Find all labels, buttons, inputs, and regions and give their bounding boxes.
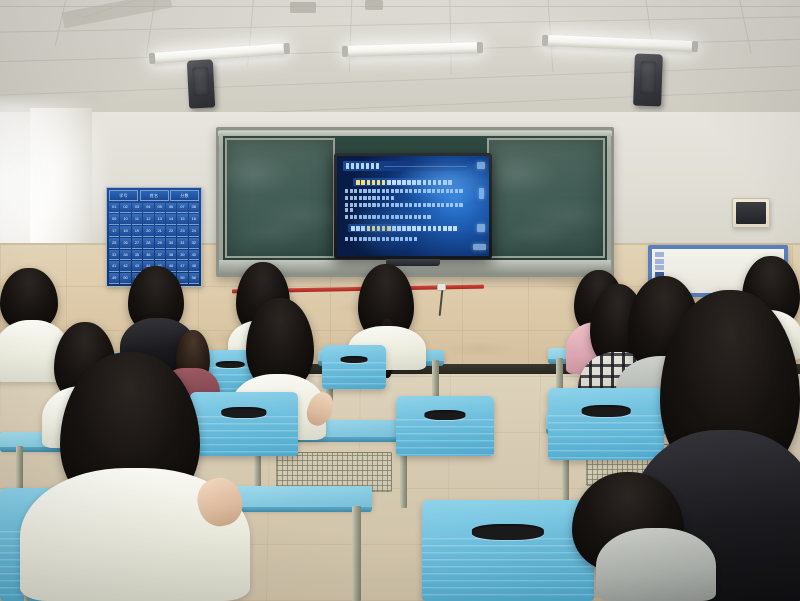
wall-control-panel[interactable]	[732, 198, 770, 228]
chart-cell[interactable]: 32	[189, 238, 199, 249]
desk-leg	[352, 506, 361, 601]
slide-text-glyph	[459, 203, 462, 207]
slide-text-glyph	[359, 196, 362, 200]
chart-row: 0102030405060708	[109, 203, 199, 214]
chart-cell[interactable]: 17	[109, 226, 119, 237]
slide-text-glyph	[418, 203, 421, 207]
slide-text-glyph	[418, 189, 421, 193]
screen-surface	[337, 156, 489, 256]
chart-row: 2526272829303132	[109, 238, 199, 249]
slide-text-glyph	[368, 196, 371, 200]
slide-text-glyph	[377, 180, 381, 185]
slide-text-glyph	[354, 196, 357, 200]
slide-text-glyph	[412, 180, 416, 185]
chart-cell[interactable]: 38	[166, 250, 176, 261]
classroom-photo: 学号姓名分数 010203040506070809101112131415161…	[0, 0, 800, 601]
slide-text-glyph	[395, 237, 398, 241]
slide-text-glyph	[372, 203, 375, 207]
slide-text-glyph	[395, 203, 398, 207]
slide-text-glyph	[414, 237, 417, 241]
chart-cell[interactable]: 33	[109, 250, 119, 261]
slide-text-glyph	[356, 180, 360, 185]
slide-text-glyph	[359, 189, 362, 193]
chart-cell[interactable]: 25	[109, 238, 119, 249]
slide-text-glyph	[441, 203, 444, 207]
chart-cell[interactable]: 34	[120, 250, 130, 261]
chair[interactable]	[396, 396, 494, 456]
slide-text-glyph	[377, 189, 380, 193]
slide-footer	[345, 237, 463, 241]
chart-cell[interactable]: 48	[189, 261, 199, 272]
slide-text-glyph	[432, 203, 435, 207]
chart-cell[interactable]: 29	[155, 238, 165, 249]
slide-text-glyph	[405, 189, 408, 193]
slide-text-glyph	[400, 237, 403, 241]
chair[interactable]	[322, 345, 386, 389]
slide-text-glyph	[400, 203, 403, 207]
slide-text-glyph	[395, 189, 398, 193]
slide-paragraph-4	[345, 215, 463, 219]
chart-cell[interactable]: 27	[132, 238, 142, 249]
slide-text-glyph	[372, 196, 375, 200]
slide-text-glyph	[359, 215, 362, 219]
slide-text-glyph	[441, 189, 444, 193]
slide-text-glyph	[361, 226, 365, 231]
slide-text-glyph	[423, 189, 426, 193]
slide-text-glyph	[382, 215, 385, 219]
chart-cell[interactable]: 09	[109, 214, 119, 225]
slide-text-glyph	[446, 203, 449, 207]
slide-text-glyph	[418, 215, 421, 219]
slide-text-glyph	[455, 189, 458, 193]
chart-cell[interactable]: 23	[177, 226, 187, 237]
slide-text-glyph	[433, 180, 437, 185]
chart-cell[interactable]: 56	[189, 273, 199, 284]
slide-text-glyph	[423, 215, 426, 219]
slide-text-glyph	[354, 203, 357, 207]
presentation-screen[interactable]	[334, 153, 492, 259]
slide-text-glyph	[345, 189, 348, 193]
slide-text-glyph	[372, 215, 375, 219]
slide-paragraph-2	[345, 196, 463, 200]
slide-text-glyph	[368, 215, 371, 219]
chair-handle-slot	[341, 356, 368, 363]
slide-text-glyph	[363, 203, 366, 207]
chart-cell[interactable]: 02	[120, 203, 130, 214]
slide-paragraph-1	[345, 189, 463, 193]
slide-text-glyph	[363, 196, 366, 200]
chart-row: 3334353637383940	[109, 250, 199, 261]
slide-text-glyph	[372, 226, 376, 231]
chair-handle-slot	[216, 361, 245, 368]
chart-cell[interactable]: 39	[177, 250, 187, 261]
slide-text-glyph	[359, 203, 362, 207]
chart-header-cell-0: 学号	[109, 190, 138, 201]
slide-text-glyph	[345, 203, 348, 207]
slide-text-glyph	[414, 215, 417, 219]
slide-text-glyph	[395, 215, 398, 219]
chart-cell[interactable]: 03	[132, 203, 142, 214]
chalkboard-panel-right[interactable]	[487, 138, 605, 258]
slide-text-glyph	[450, 189, 453, 193]
chart-cell[interactable]: 35	[132, 250, 142, 261]
chart-cell[interactable]: 05	[155, 203, 165, 214]
slide-text-glyph	[361, 180, 365, 185]
chart-cell[interactable]: 26	[120, 238, 130, 249]
ceiling-grid	[0, 0, 800, 118]
slide-text-glyph	[368, 203, 371, 207]
slide-text-glyph	[350, 196, 353, 200]
slide-text-glyph	[387, 180, 391, 185]
slide-text-glyph	[438, 180, 442, 185]
slide-text-glyph	[407, 180, 411, 185]
slide-paragraph-3	[345, 203, 463, 212]
slide-text-glyph	[448, 180, 452, 185]
chart-row: 0910111213141516	[109, 214, 199, 225]
chart-cell[interactable]: 01	[109, 203, 119, 214]
slide-text-glyph	[367, 180, 371, 185]
slide-text-glyph	[350, 189, 353, 193]
chart-cell[interactable]: 20	[143, 226, 153, 237]
slide-text-glyph	[423, 226, 427, 231]
chart-cell[interactable]: 31	[177, 238, 187, 249]
slide-text-glyph	[405, 203, 408, 207]
control-panel-screen	[736, 202, 766, 224]
slide-text-glyph	[459, 189, 462, 193]
chart-header-cell-1: 姓名	[140, 190, 169, 201]
slide-text-glyph	[437, 203, 440, 207]
slide-text-glyph	[402, 180, 406, 185]
wall-speaker-left	[187, 59, 215, 108]
slide-text-glyph	[350, 203, 353, 207]
chart-cell[interactable]: 22	[166, 226, 176, 237]
slide-text-glyph	[351, 226, 355, 231]
chair-handle-slot	[472, 524, 544, 540]
slide-text-glyph	[450, 203, 453, 207]
slide-text-glyph	[397, 226, 401, 231]
slide-text-glyph	[382, 196, 385, 200]
whiteboard-label	[655, 252, 664, 277]
slide-text-glyph	[455, 203, 458, 207]
chart-cell[interactable]: 21	[155, 226, 165, 237]
slide-text-glyph	[377, 226, 381, 231]
slide-text-glyph	[350, 215, 353, 219]
chart-cell[interactable]: 06	[166, 203, 176, 214]
slide-text-glyph	[368, 237, 371, 241]
slide-text-glyph	[437, 189, 440, 193]
slide-text-glyph	[345, 215, 348, 219]
slide-text-glyph	[409, 203, 412, 207]
slide-body	[345, 178, 463, 246]
slide-text-glyph	[409, 215, 412, 219]
slide-text-glyph	[354, 215, 357, 219]
student-torso	[596, 528, 716, 601]
slide-text-glyph	[391, 196, 394, 200]
chart-cell[interactable]: 13	[155, 214, 165, 225]
slide-text-glyph	[382, 189, 385, 193]
slide-text-glyph	[387, 226, 391, 231]
slide-text-glyph	[423, 180, 427, 185]
slide-text-glyph	[405, 237, 408, 241]
slide-text-glyph	[391, 203, 394, 207]
slide-text-glyph	[372, 189, 375, 193]
chair-handle-slot	[582, 405, 631, 417]
slide-text-glyph	[386, 203, 389, 207]
ceiling	[0, 0, 800, 118]
chart-header: 学号姓名分数	[109, 190, 199, 201]
chart-cell[interactable]: 49	[109, 273, 119, 284]
slide-text-glyph	[391, 237, 394, 241]
slide-text-glyph	[372, 237, 375, 241]
chair-handle-slot	[424, 410, 465, 420]
chart-cell[interactable]: 41	[109, 261, 119, 272]
slide-text-glyph	[367, 226, 371, 231]
slide-text-glyph	[427, 189, 430, 193]
slide-text-glyph	[345, 208, 348, 212]
slide-titlebar	[343, 161, 467, 171]
chart-header-cell-2: 分数	[170, 190, 199, 201]
chart-cell[interactable]: 15	[177, 214, 187, 225]
slide-text-glyph	[402, 226, 406, 231]
slide-text-glyph	[397, 180, 401, 185]
slide-text-glyph	[412, 226, 416, 231]
chart-cell[interactable]: 30	[166, 238, 176, 249]
chart-cell[interactable]: 36	[143, 250, 153, 261]
chart-cell[interactable]: 37	[155, 250, 165, 261]
slide-text-glyph	[428, 180, 432, 185]
chart-cell[interactable]: 14	[166, 214, 176, 225]
chart-row: 1718192021222324	[109, 226, 199, 237]
chart-cell[interactable]: 40	[189, 250, 199, 261]
slide-headline	[353, 178, 454, 186]
chair[interactable]	[190, 392, 298, 456]
slide-text-glyph	[453, 226, 457, 231]
chart-cell[interactable]: 24	[189, 226, 199, 237]
slide-text-glyph	[377, 215, 380, 219]
chart-cell[interactable]: 12	[143, 214, 153, 225]
chart-cell[interactable]: 19	[132, 226, 142, 237]
slide-text-glyph	[428, 226, 432, 231]
slide-text-glyph	[400, 189, 403, 193]
slide-text-glyph	[432, 189, 435, 193]
slide-text-glyph	[350, 208, 353, 212]
slide-text-glyph	[446, 189, 449, 193]
slide-text-glyph	[427, 215, 430, 219]
slide-text-glyph	[356, 226, 360, 231]
chair-back	[190, 392, 298, 456]
slide-text-glyph	[359, 237, 362, 241]
chair-back	[422, 500, 594, 601]
slide-text-glyph	[433, 226, 437, 231]
slide-text-glyph	[391, 215, 394, 219]
wall-speaker-right	[633, 54, 663, 107]
slide-text-glyph	[409, 237, 412, 241]
slide-text-glyph	[377, 196, 380, 200]
slide-text-glyph	[414, 203, 417, 207]
slide-subheadline	[348, 224, 459, 232]
chart-cell[interactable]: 10	[120, 214, 130, 225]
chalkboard-panel-left[interactable]	[225, 138, 335, 258]
blackboard-top-rail	[218, 131, 612, 136]
slide-text-glyph	[354, 189, 357, 193]
slide-text-glyph	[363, 237, 366, 241]
slide-text-glyph	[345, 196, 348, 200]
slide-text-glyph	[423, 203, 426, 207]
slide-text-glyph	[386, 237, 389, 241]
slide-text-glyph	[382, 203, 385, 207]
slide-text-glyph	[409, 189, 412, 193]
slide-text-glyph	[386, 189, 389, 193]
slide-text-glyph	[363, 189, 366, 193]
chart-cell[interactable]: 11	[132, 214, 142, 225]
slide-text-glyph	[392, 180, 396, 185]
slide-text-glyph	[448, 226, 452, 231]
slide-text-glyph	[368, 189, 371, 193]
slide-text-glyph	[363, 215, 366, 219]
slide-text-glyph	[417, 226, 421, 231]
slide-text-glyph	[392, 226, 396, 231]
slide-text-glyph	[391, 189, 394, 193]
slide-text-glyph	[372, 180, 376, 185]
slide-text-glyph	[350, 237, 353, 241]
slide-text-glyph	[386, 215, 389, 219]
slide-text-glyph	[386, 196, 389, 200]
chair[interactable]	[548, 388, 664, 460]
slide-text-glyph	[377, 237, 380, 241]
slide-text-glyph	[443, 226, 447, 231]
slide-text-glyph	[414, 189, 417, 193]
slide-text-glyph	[405, 215, 408, 219]
chair-back	[322, 345, 386, 389]
chair-back	[396, 396, 494, 456]
slide-text-glyph	[377, 203, 380, 207]
slide-text-glyph	[443, 180, 447, 185]
slide-text-glyph	[400, 215, 403, 219]
slide-text-glyph	[427, 203, 430, 207]
chart-cell[interactable]: 18	[120, 226, 130, 237]
chair[interactable]	[422, 500, 594, 601]
slide-text-glyph	[345, 237, 348, 241]
chair-handle-slot	[221, 407, 266, 417]
chart-cell[interactable]: 08	[189, 203, 199, 214]
slide-text-glyph	[417, 180, 421, 185]
chart-cell[interactable]: 16	[189, 214, 199, 225]
chart-cell[interactable]: 07	[177, 203, 187, 214]
slide-text-glyph	[382, 180, 386, 185]
slide-text-glyph	[382, 226, 386, 231]
chart-cell[interactable]: 28	[143, 238, 153, 249]
slide-decoration	[466, 160, 486, 256]
slide-text-glyph	[438, 226, 442, 231]
chart-cell[interactable]: 04	[143, 203, 153, 214]
chair-back	[548, 388, 664, 460]
slide-text-glyph	[354, 237, 357, 241]
slide-text-glyph	[407, 226, 411, 231]
slide-text-glyph	[382, 237, 385, 241]
